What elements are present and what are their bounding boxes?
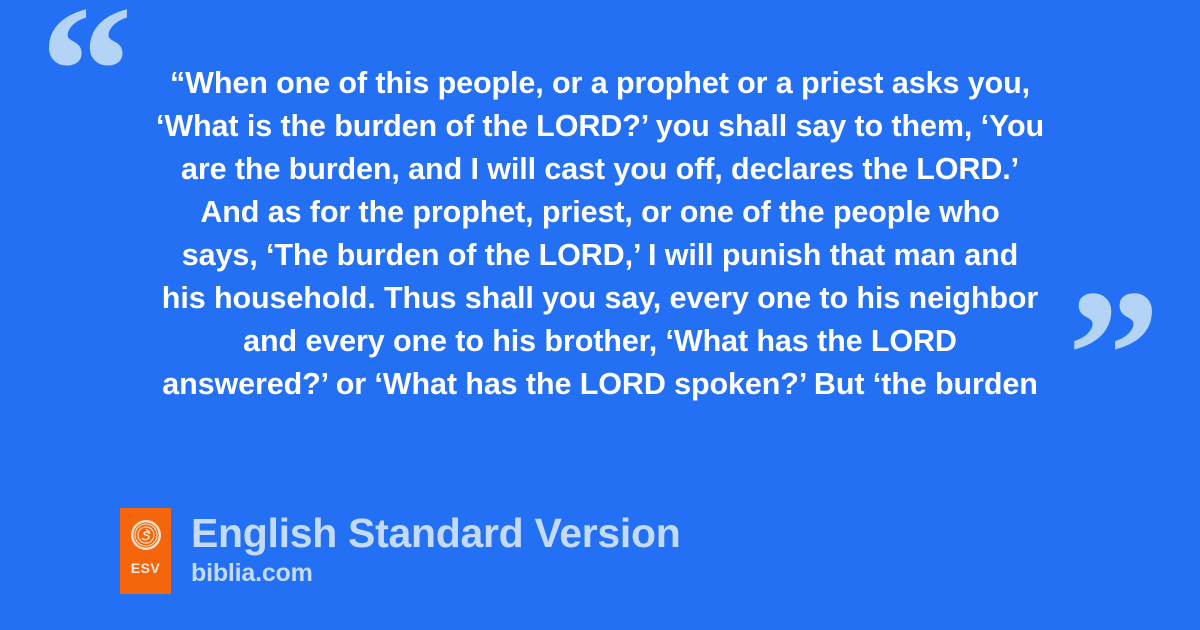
quote-line: says, ‘The burden of the LORD,’ I will p… — [112, 234, 1088, 277]
attribution-footer: ESV English Standard Version biblia.com — [120, 508, 680, 594]
quote-line: his household. Thus shall you say, every… — [112, 277, 1088, 320]
quote-line: “When one of this people, or a prophet o… — [112, 62, 1088, 105]
quote-line: and every one to his brother, ‘What has … — [112, 320, 1088, 363]
quote-line: ‘What is the burden of the LORD?’ you sh… — [112, 105, 1088, 148]
footer-text-group: English Standard Version biblia.com — [191, 508, 680, 588]
esv-seal-icon — [130, 519, 162, 551]
quote-line: answered?’ or ‘What has the LORD spoken?… — [112, 363, 1088, 406]
quote-line: are the burden, and I will cast you off,… — [112, 148, 1088, 191]
esv-abbreviation-label: ESV — [120, 560, 171, 576]
esv-logo-badge: ESV — [120, 508, 171, 594]
site-url-label: biblia.com — [191, 558, 680, 588]
quote-text-block: “When one of this people, or a prophet o… — [0, 62, 1200, 406]
verse-image-card: “ ” “When one of this people, or a proph… — [0, 0, 1200, 630]
bible-version-title: English Standard Version — [191, 510, 680, 556]
quote-line: And as for the prophet, priest, or one o… — [112, 191, 1088, 234]
